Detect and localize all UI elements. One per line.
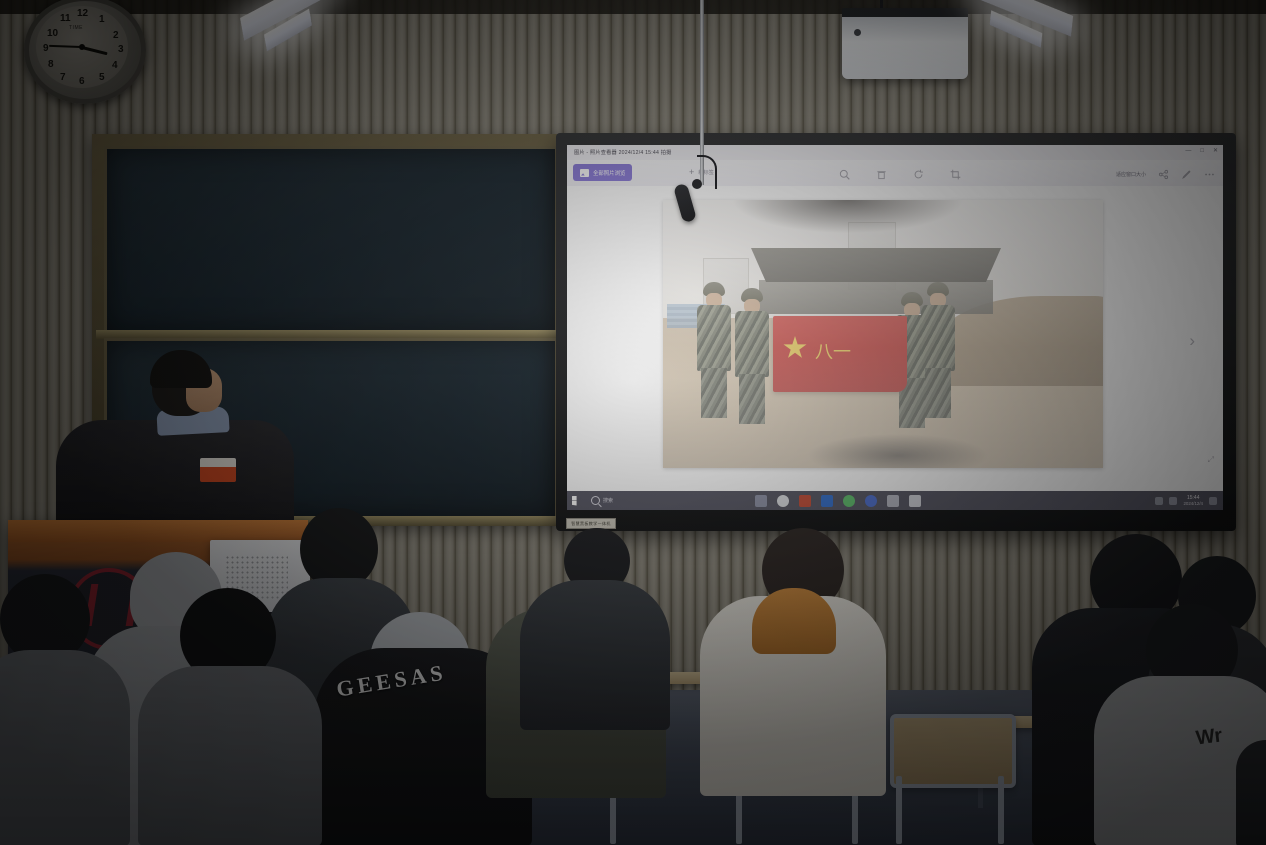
room-lighting-overlay	[0, 0, 1266, 845]
classroom-scene: TIME 12 1 2 3 4 5 6 7 8 9 10 11 图片 - 照片查…	[0, 0, 1266, 845]
